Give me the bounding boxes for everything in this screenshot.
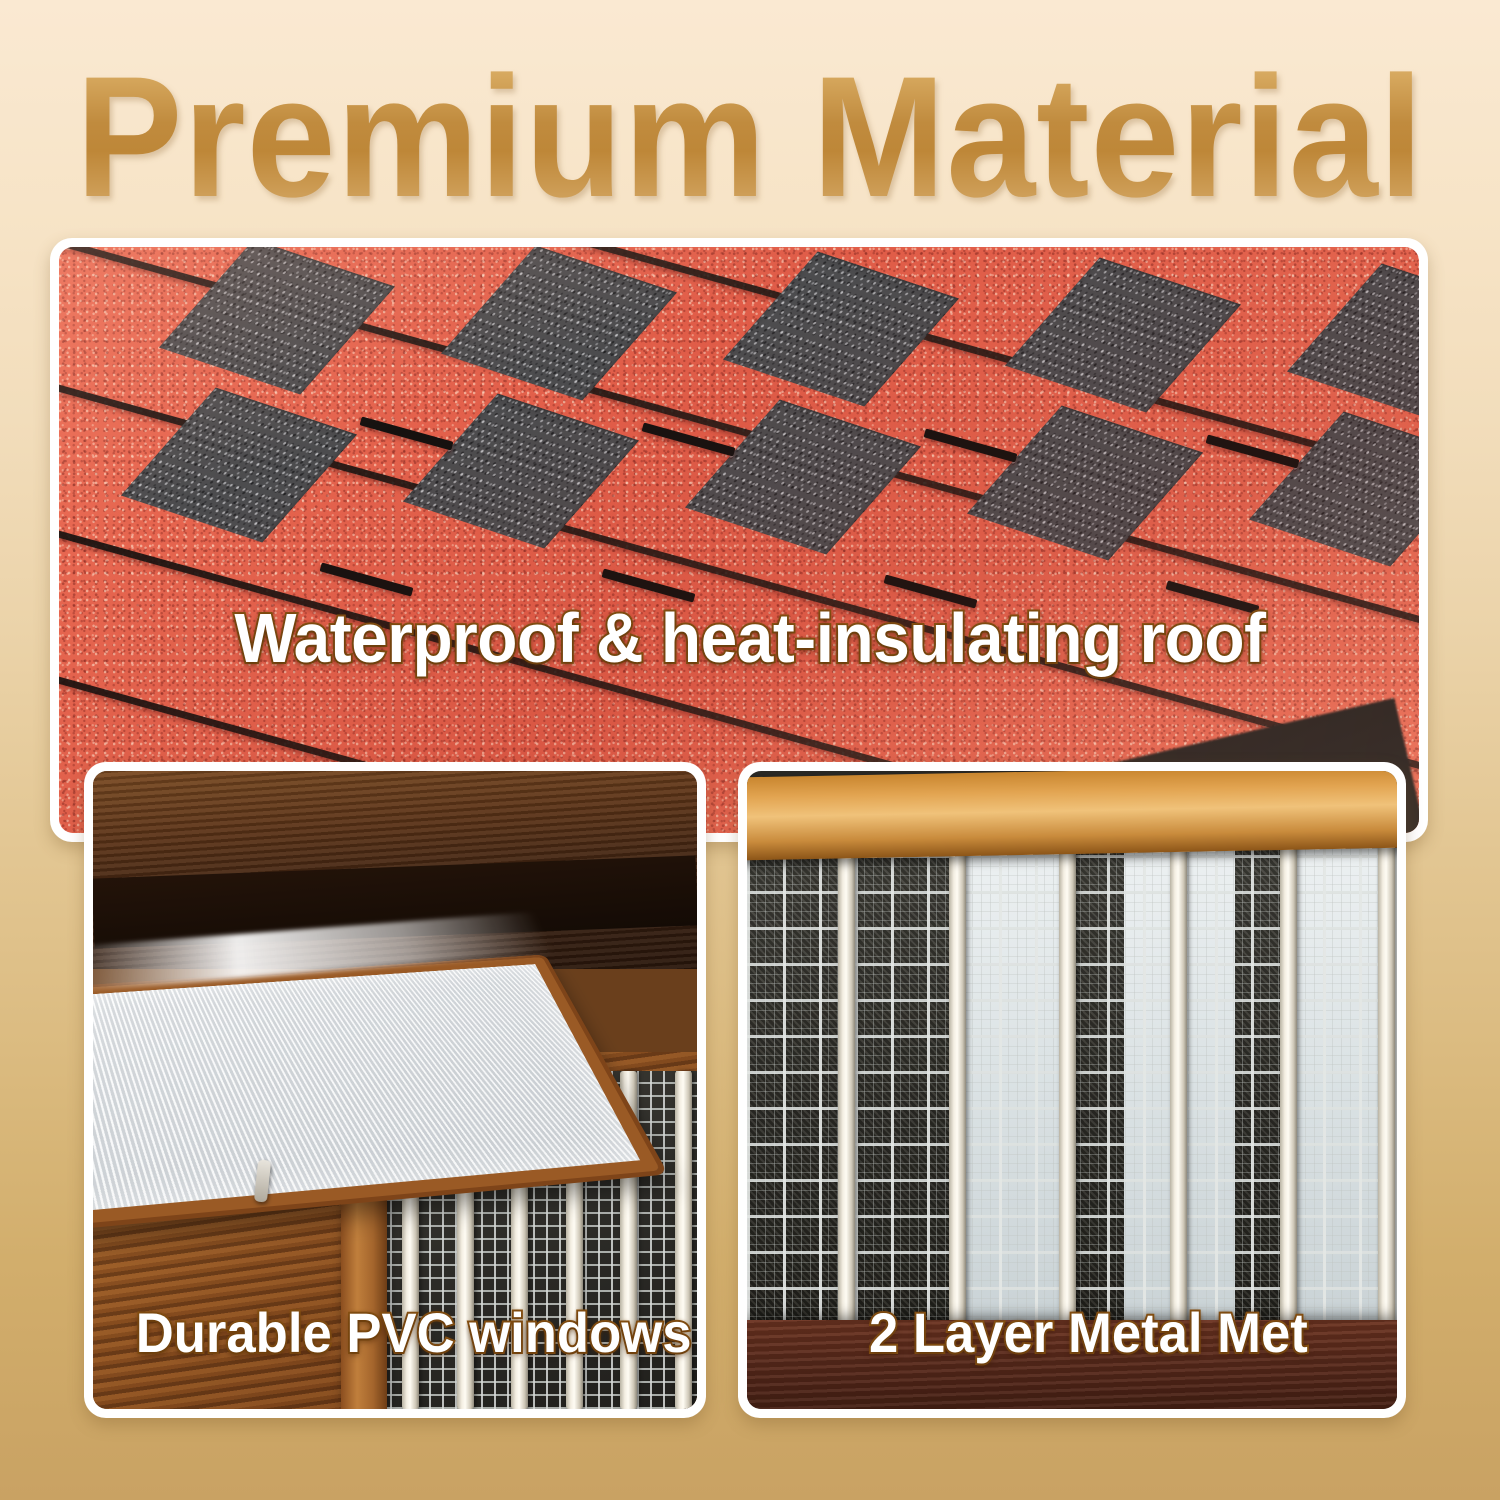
mesh-bay-light [962,848,1066,1327]
panel-roof [50,238,1428,842]
caption-pvc-window: Durable PVC windows [136,1300,692,1365]
caption-roof: Waterproof & heat-insulating roof [234,598,1265,678]
poster-title: Premium Material [76,51,1424,223]
poster-title-container: Premium Material [0,52,1500,222]
metal-bar [949,843,966,1331]
metal-bar [1170,843,1187,1331]
mesh-bay-dark [1235,848,1287,1327]
mesh-bay-dark [858,848,962,1327]
premium-material-poster: Premium Material [0,0,1500,1500]
metal-bar [1059,843,1076,1331]
metal-bar [1378,843,1395,1331]
wood-top-rail [747,771,1397,860]
mesh-bay-field [747,848,1397,1327]
metal-bar [838,843,855,1331]
panel-roof-image [59,247,1419,833]
metal-bar [1280,843,1297,1331]
caption-metal-mesh: 2 Layer Metal Met [869,1300,1308,1365]
